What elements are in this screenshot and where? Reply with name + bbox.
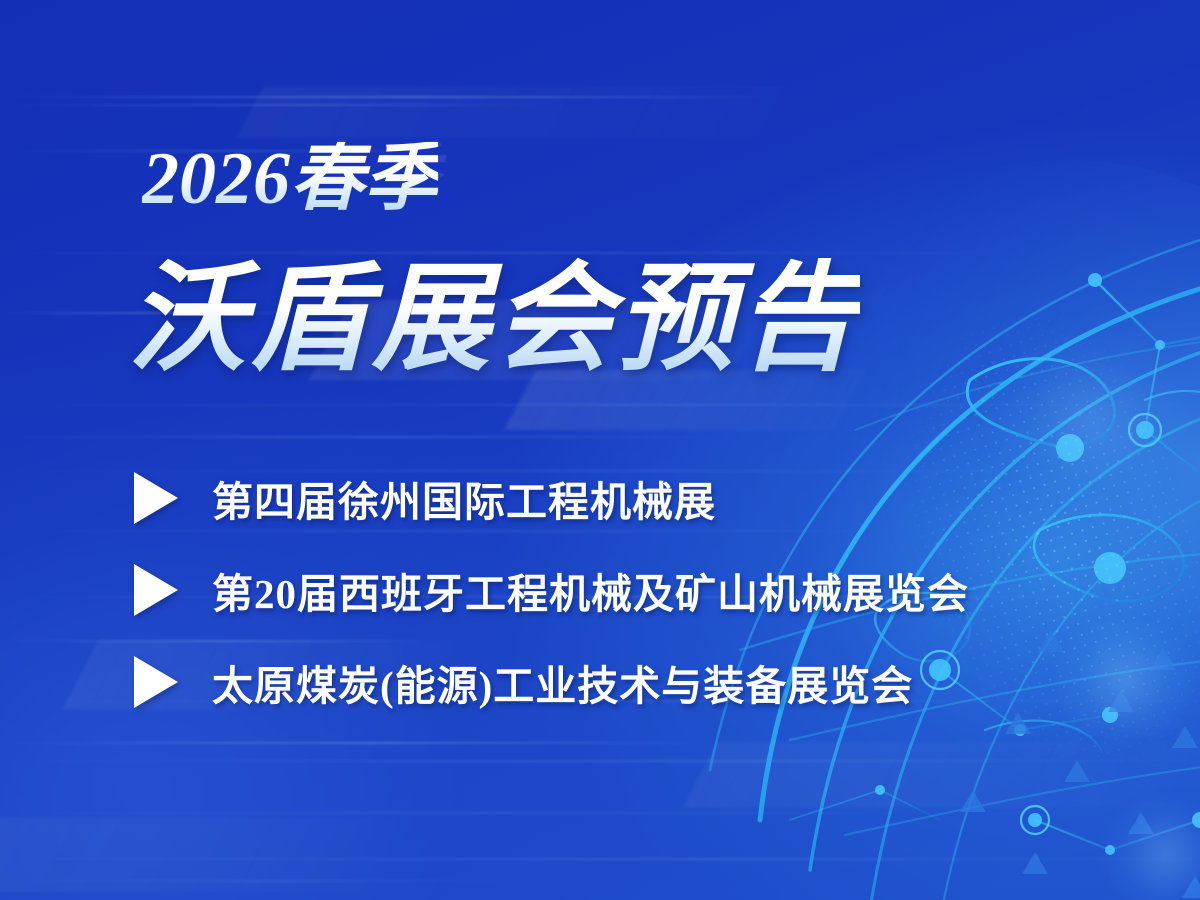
exhibition-list: 第四届徐州国际工程机械展 第20届西班牙工程机械及矿山机械展览会 太原煤炭(能源… [134, 452, 1134, 728]
exhibition-name: 第20届西班牙工程机械及矿山机械展览会 [212, 560, 969, 620]
poster-content: 2026春季 沃盾展会预告 第四届徐州国际工程机械展 第20届西班牙工程机械及矿… [0, 0, 1200, 900]
page-title: 沃盾展会预告 [128, 256, 860, 383]
exhibition-name: 第四届徐州国际工程机械展 [212, 468, 716, 528]
triangle-right-icon [134, 472, 178, 524]
list-item: 第四届徐州国际工程机械展 [134, 452, 1134, 544]
exhibition-name: 太原煤炭(能源)工业技术与装备展览会 [212, 652, 913, 712]
list-item: 太原煤炭(能源)工业技术与装备展览会 [134, 636, 1134, 728]
eyebrow-year: 2026春季 [142, 142, 438, 216]
triangle-right-icon [134, 656, 178, 708]
list-item: 第20届西班牙工程机械及矿山机械展览会 [134, 544, 1134, 636]
triangle-right-icon [134, 564, 178, 616]
exhibition-preview-poster: 2026春季 沃盾展会预告 第四届徐州国际工程机械展 第20届西班牙工程机械及矿… [0, 0, 1200, 900]
